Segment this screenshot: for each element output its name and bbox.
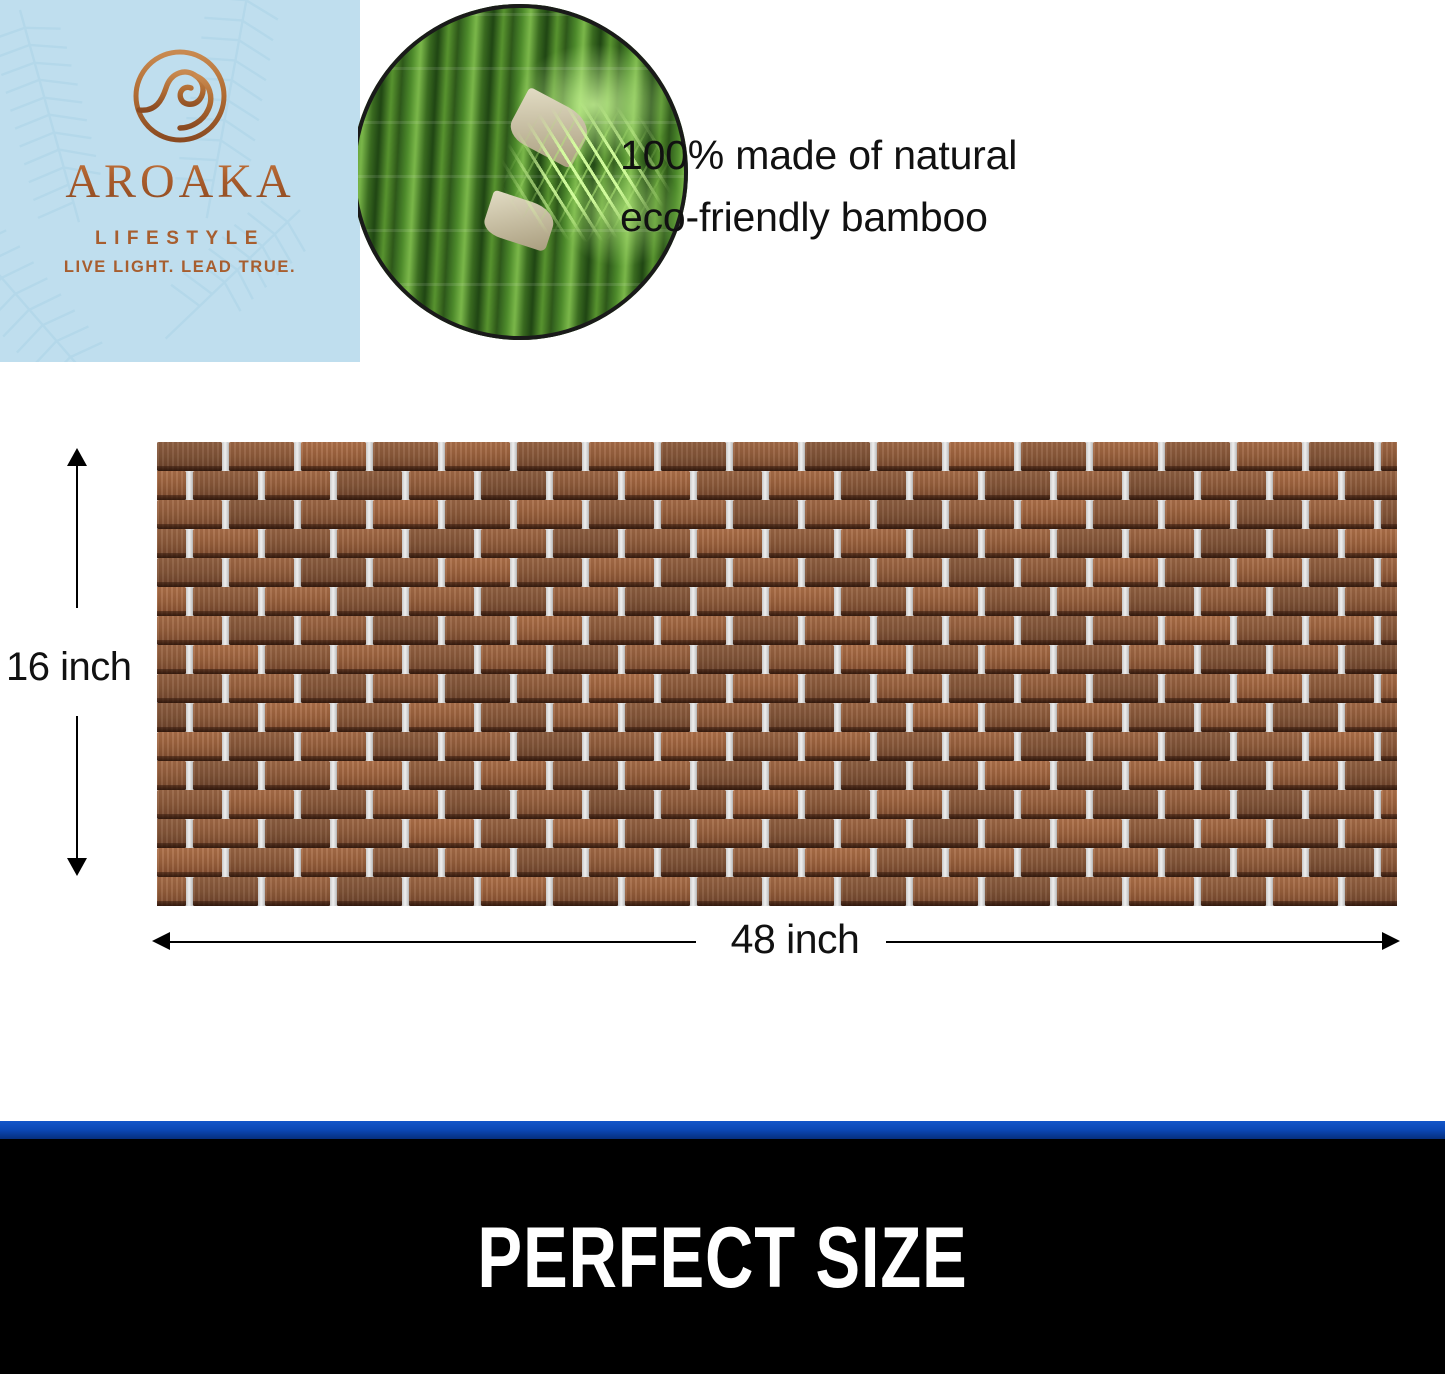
mat-gap: [726, 558, 733, 587]
mat-slat: [1129, 645, 1194, 674]
mat-slat: [1309, 790, 1374, 819]
mat-slat: [877, 790, 942, 819]
mat-slat: [1093, 616, 1158, 645]
width-label: 48 inch: [700, 916, 890, 963]
mat-slat: [985, 703, 1050, 732]
mat-slat: [1129, 819, 1194, 848]
mat-gap: [582, 848, 589, 877]
mat-gap: [294, 500, 301, 529]
mat-slat: [1345, 471, 1397, 500]
mat-slat: [877, 558, 942, 587]
mat-gap: [474, 703, 481, 732]
mat-gap: [474, 587, 481, 616]
mat-gap: [1086, 848, 1093, 877]
mat-gap: [1266, 471, 1273, 500]
mat-gap: [1014, 790, 1021, 819]
mat-gap: [510, 732, 517, 761]
mat-slat: [373, 848, 438, 877]
mat-gap: [186, 819, 193, 848]
mat-row: [157, 442, 1397, 471]
mat-gap: [1266, 529, 1273, 558]
mat-slat: [229, 442, 294, 471]
mat-gap: [1230, 558, 1237, 587]
arrow-shaft-right: [886, 941, 1386, 943]
mat-gap: [1338, 819, 1345, 848]
mat-slat: [1345, 587, 1397, 616]
mat-slat: [1021, 558, 1086, 587]
mat-slat: [1237, 674, 1302, 703]
mat-gap: [438, 500, 445, 529]
mat-slat: [1165, 790, 1230, 819]
mat-gap: [726, 848, 733, 877]
mat-gap: [690, 587, 697, 616]
mat-gap: [330, 587, 337, 616]
mat-gap: [798, 558, 805, 587]
mat-gap: [1050, 471, 1057, 500]
mat-slat: [337, 471, 402, 500]
mat-gap: [1014, 442, 1021, 471]
footer-title: PERFECT SIZE: [159, 1209, 1286, 1308]
mat-gap: [402, 761, 409, 790]
mat-gap: [726, 442, 733, 471]
mat-slat: [481, 587, 546, 616]
mat-slat: [445, 790, 510, 819]
mat-gap: [1194, 761, 1201, 790]
mat-slat: [733, 500, 798, 529]
mat-slat: [949, 616, 1014, 645]
brand-panel: AROAKA LIFESTYLE LIVE LIGHT. LEAD TRUE.: [0, 0, 360, 362]
mat-slat: [517, 500, 582, 529]
mat-gap: [366, 732, 373, 761]
mat-gap: [906, 645, 913, 674]
mat-gap: [1086, 674, 1093, 703]
mat-slat: [1201, 703, 1266, 732]
mat-gap: [1014, 848, 1021, 877]
mat-slat: [1237, 616, 1302, 645]
mat-gap: [1014, 674, 1021, 703]
mat-gap: [978, 819, 985, 848]
mat-gap: [690, 529, 697, 558]
mat-slat: [301, 674, 366, 703]
mat-gap: [978, 877, 985, 906]
mat-slat: [661, 442, 726, 471]
mat-slat: [913, 703, 978, 732]
mat-slat: [337, 703, 402, 732]
mat-gap: [654, 500, 661, 529]
mat-gap: [582, 442, 589, 471]
mat-slat: [481, 471, 546, 500]
mat-slat: [229, 790, 294, 819]
mat-gap: [1194, 529, 1201, 558]
mat-slat: [1201, 877, 1266, 906]
mat-gap: [834, 761, 841, 790]
mat-gap: [1050, 703, 1057, 732]
mat-gap: [258, 703, 265, 732]
mat-slat: [985, 471, 1050, 500]
mat-slat: [373, 674, 438, 703]
mat-gap: [1086, 558, 1093, 587]
mat-gap: [330, 471, 337, 500]
arrow-shaft-top: [76, 462, 78, 608]
mat-slat: [1165, 500, 1230, 529]
mat-gap: [726, 790, 733, 819]
mat-gap: [510, 442, 517, 471]
mat-gap: [1158, 790, 1165, 819]
mat-gap: [366, 442, 373, 471]
mat-gap: [1374, 558, 1381, 587]
mat-gap: [1014, 558, 1021, 587]
mat-slat: [1381, 616, 1397, 645]
mat-slat: [589, 674, 654, 703]
mat-slat: [625, 877, 690, 906]
mat-slat: [985, 819, 1050, 848]
mat-slat: [589, 500, 654, 529]
mat-gap: [438, 790, 445, 819]
mat-gap: [366, 616, 373, 645]
mat-gap: [294, 558, 301, 587]
mat-slat: [265, 587, 330, 616]
mat-gap: [258, 587, 265, 616]
width-dimension-arrow: 48 inch: [152, 925, 1400, 959]
mat-gap: [1374, 848, 1381, 877]
mat-slat: [229, 674, 294, 703]
mat-gap: [582, 558, 589, 587]
mat-gap: [1086, 790, 1093, 819]
mat-slat: [877, 616, 942, 645]
mat-slat: [1345, 819, 1397, 848]
mat-gap: [1194, 819, 1201, 848]
mat-slat: [913, 819, 978, 848]
mat-slat: [1129, 529, 1194, 558]
mat-slat: [1129, 761, 1194, 790]
mat-gap: [510, 558, 517, 587]
mat-slat: [1057, 819, 1122, 848]
mat-slat: [481, 877, 546, 906]
mat-slat: [625, 703, 690, 732]
mat-gap: [798, 500, 805, 529]
mat-slat: [769, 529, 834, 558]
mat-gap: [906, 529, 913, 558]
mat-gap: [1014, 500, 1021, 529]
mat-slat: [1165, 616, 1230, 645]
mat-gap: [1266, 587, 1273, 616]
mat-gap: [546, 761, 553, 790]
mat-slat: [661, 848, 726, 877]
mat-gap: [1194, 703, 1201, 732]
mat-gap: [1266, 645, 1273, 674]
mat-slat: [1201, 645, 1266, 674]
mat-gap: [762, 645, 769, 674]
mat-slat: [1129, 877, 1194, 906]
mat-slat: [1273, 819, 1338, 848]
mat-gap: [906, 761, 913, 790]
mat-slat: [1381, 732, 1397, 761]
brand-subtitle: LIFESTYLE: [0, 228, 360, 250]
mat-gap: [942, 732, 949, 761]
arrow-head-right: [1382, 932, 1400, 950]
mat-gap: [546, 819, 553, 848]
mat-gap: [654, 674, 661, 703]
mat-gap: [438, 616, 445, 645]
mat-slat: [157, 558, 222, 587]
mat-gap: [1158, 848, 1165, 877]
mat-slat: [445, 732, 510, 761]
mat-gap: [762, 761, 769, 790]
mat-slat: [1165, 848, 1230, 877]
mat-slat: [157, 500, 222, 529]
mat-gap: [366, 848, 373, 877]
mat-gap: [1266, 761, 1273, 790]
mat-gap: [1230, 732, 1237, 761]
mat-gap: [690, 819, 697, 848]
mat-gap: [366, 790, 373, 819]
mat-gap: [1194, 645, 1201, 674]
mat-slat: [1237, 790, 1302, 819]
mat-gap: [258, 761, 265, 790]
mat-slat: [1309, 500, 1374, 529]
mat-slat: [373, 558, 438, 587]
mat-gap: [186, 761, 193, 790]
mat-slat: [1129, 587, 1194, 616]
mat-slat: [1057, 703, 1122, 732]
mat-slat: [733, 674, 798, 703]
mat-slat: [517, 442, 582, 471]
mat-slat: [697, 819, 762, 848]
mat-gap: [942, 848, 949, 877]
mat-slat: [1165, 674, 1230, 703]
mat-slat: [1201, 819, 1266, 848]
mat-slat: [949, 848, 1014, 877]
mat-gap: [870, 558, 877, 587]
mat-slat: [229, 500, 294, 529]
mat-gap: [690, 761, 697, 790]
mat-slat: [517, 732, 582, 761]
mat-slat: [841, 877, 906, 906]
mat-slat: [1201, 587, 1266, 616]
mat-slat: [553, 587, 618, 616]
mat-gap: [1122, 529, 1129, 558]
mat-gap: [546, 471, 553, 500]
mat-slat: [733, 790, 798, 819]
headline-line-1: 100% made of natural: [620, 124, 1180, 186]
mat-slat: [625, 645, 690, 674]
mat-slat: [1093, 790, 1158, 819]
mat-gap: [1122, 471, 1129, 500]
mat-slat: [697, 529, 762, 558]
mat-row: [157, 500, 1397, 529]
mat-gap: [1194, 587, 1201, 616]
mat-slat: [229, 732, 294, 761]
mat-slat: [373, 790, 438, 819]
mat-gap: [798, 848, 805, 877]
mat-gap: [330, 529, 337, 558]
mat-slat: [265, 645, 330, 674]
mat-slat: [373, 616, 438, 645]
mat-gap: [294, 616, 301, 645]
mat-row: [157, 877, 1397, 906]
mat-gap: [546, 877, 553, 906]
mat-gap: [474, 877, 481, 906]
mat-slat: [409, 761, 474, 790]
mat-gap: [870, 500, 877, 529]
mat-slat: [589, 848, 654, 877]
mat-gap: [978, 645, 985, 674]
mat-slat: [1273, 587, 1338, 616]
mat-gap: [1230, 500, 1237, 529]
mat-gap: [1194, 877, 1201, 906]
mat-slat: [805, 674, 870, 703]
mat-slat: [1093, 442, 1158, 471]
mat-slat: [445, 558, 510, 587]
mat-slat: [193, 587, 258, 616]
mat-gap: [582, 732, 589, 761]
mat-gap: [402, 645, 409, 674]
mat-slat: [157, 877, 186, 906]
mat-slat: [661, 616, 726, 645]
mat-slat: [805, 616, 870, 645]
mat-slat: [1057, 529, 1122, 558]
mat-gap: [1158, 500, 1165, 529]
mat-slat: [481, 645, 546, 674]
mat-gap: [1302, 732, 1309, 761]
mat-gap: [186, 529, 193, 558]
mat-slat: [769, 877, 834, 906]
mat-gap: [834, 529, 841, 558]
mat-gap: [546, 703, 553, 732]
mat-gap: [1050, 645, 1057, 674]
mat-gap: [942, 674, 949, 703]
wave-circle-icon: [126, 42, 234, 150]
mat-gap: [618, 587, 625, 616]
mat-slat: [877, 500, 942, 529]
mat-gap: [1338, 587, 1345, 616]
mat-gap: [186, 587, 193, 616]
mat-slat: [1093, 558, 1158, 587]
mat-gap: [510, 500, 517, 529]
arrow-shaft-left: [166, 941, 696, 943]
mat-slat: [157, 442, 222, 471]
mat-gap: [762, 529, 769, 558]
mat-slat: [697, 877, 762, 906]
mat-slat: [1381, 848, 1397, 877]
mat-slat: [193, 703, 258, 732]
mat-slat: [517, 558, 582, 587]
mat-slat: [445, 848, 510, 877]
mat-slat: [661, 674, 726, 703]
mat-slat: [265, 471, 330, 500]
mat-slat: [625, 529, 690, 558]
footer-banner: PERFECT SIZE: [0, 1121, 1445, 1374]
mat-slat: [949, 558, 1014, 587]
mat-slat: [1165, 442, 1230, 471]
mat-gap: [366, 558, 373, 587]
mat-gap: [330, 645, 337, 674]
mat-gap: [1122, 877, 1129, 906]
mat-slat: [553, 529, 618, 558]
mat-slat: [913, 877, 978, 906]
mat-slat: [697, 761, 762, 790]
mat-gap: [1086, 442, 1093, 471]
mat-slat: [193, 471, 258, 500]
mat-gap: [1338, 703, 1345, 732]
mat-slat: [265, 877, 330, 906]
mat-gap: [906, 819, 913, 848]
mat-slat: [1093, 848, 1158, 877]
mat-gap: [582, 674, 589, 703]
mat-gap: [1050, 877, 1057, 906]
mat-row: [157, 587, 1397, 616]
mat-slat: [769, 645, 834, 674]
mat-gap: [1374, 732, 1381, 761]
mat-slat: [949, 500, 1014, 529]
mat-slat: [157, 674, 222, 703]
mat-gap: [978, 587, 985, 616]
mat-gap: [762, 587, 769, 616]
mat-slat: [913, 529, 978, 558]
mat-gap: [510, 674, 517, 703]
mat-slat: [157, 587, 186, 616]
mat-slat: [409, 645, 474, 674]
mat-slat: [373, 500, 438, 529]
mat-row: [157, 761, 1397, 790]
mat-slat: [1129, 471, 1194, 500]
mat-slat: [553, 645, 618, 674]
mat-slat: [733, 616, 798, 645]
mat-gap: [186, 703, 193, 732]
mat-slat: [229, 558, 294, 587]
mat-slat: [409, 877, 474, 906]
mat-gap: [1158, 616, 1165, 645]
mat-slat: [1093, 500, 1158, 529]
mat-slat: [157, 848, 222, 877]
mat-slat: [1345, 703, 1397, 732]
mat-gap: [546, 529, 553, 558]
mat-gap: [942, 442, 949, 471]
mat-slat: [697, 471, 762, 500]
mat-slat: [913, 587, 978, 616]
mat-slat: [1165, 732, 1230, 761]
mat-gap: [582, 790, 589, 819]
mat-slat: [1021, 790, 1086, 819]
mat-gap: [1122, 761, 1129, 790]
mat-gap: [1158, 674, 1165, 703]
mat-gap: [1266, 877, 1273, 906]
mat-slat: [445, 674, 510, 703]
mat-gap: [834, 645, 841, 674]
mat-slat: [1057, 471, 1122, 500]
mat-gap: [1338, 761, 1345, 790]
mat-slat: [517, 848, 582, 877]
mat-gap: [870, 616, 877, 645]
mat-gap: [438, 442, 445, 471]
mat-slat: [805, 848, 870, 877]
mat-slat: [949, 790, 1014, 819]
mat-slat: [193, 761, 258, 790]
mat-gap: [294, 442, 301, 471]
mat-slat: [1021, 848, 1086, 877]
mat-gap: [330, 703, 337, 732]
mat-gap: [222, 848, 229, 877]
mat-gap: [222, 790, 229, 819]
mat-slat: [1381, 674, 1397, 703]
mat-slat: [517, 616, 582, 645]
mat-slat: [265, 761, 330, 790]
mat-slat: [625, 471, 690, 500]
mat-gap: [294, 732, 301, 761]
mat-slat: [1309, 674, 1374, 703]
mat-slat: [301, 790, 366, 819]
mat-gap: [1086, 732, 1093, 761]
